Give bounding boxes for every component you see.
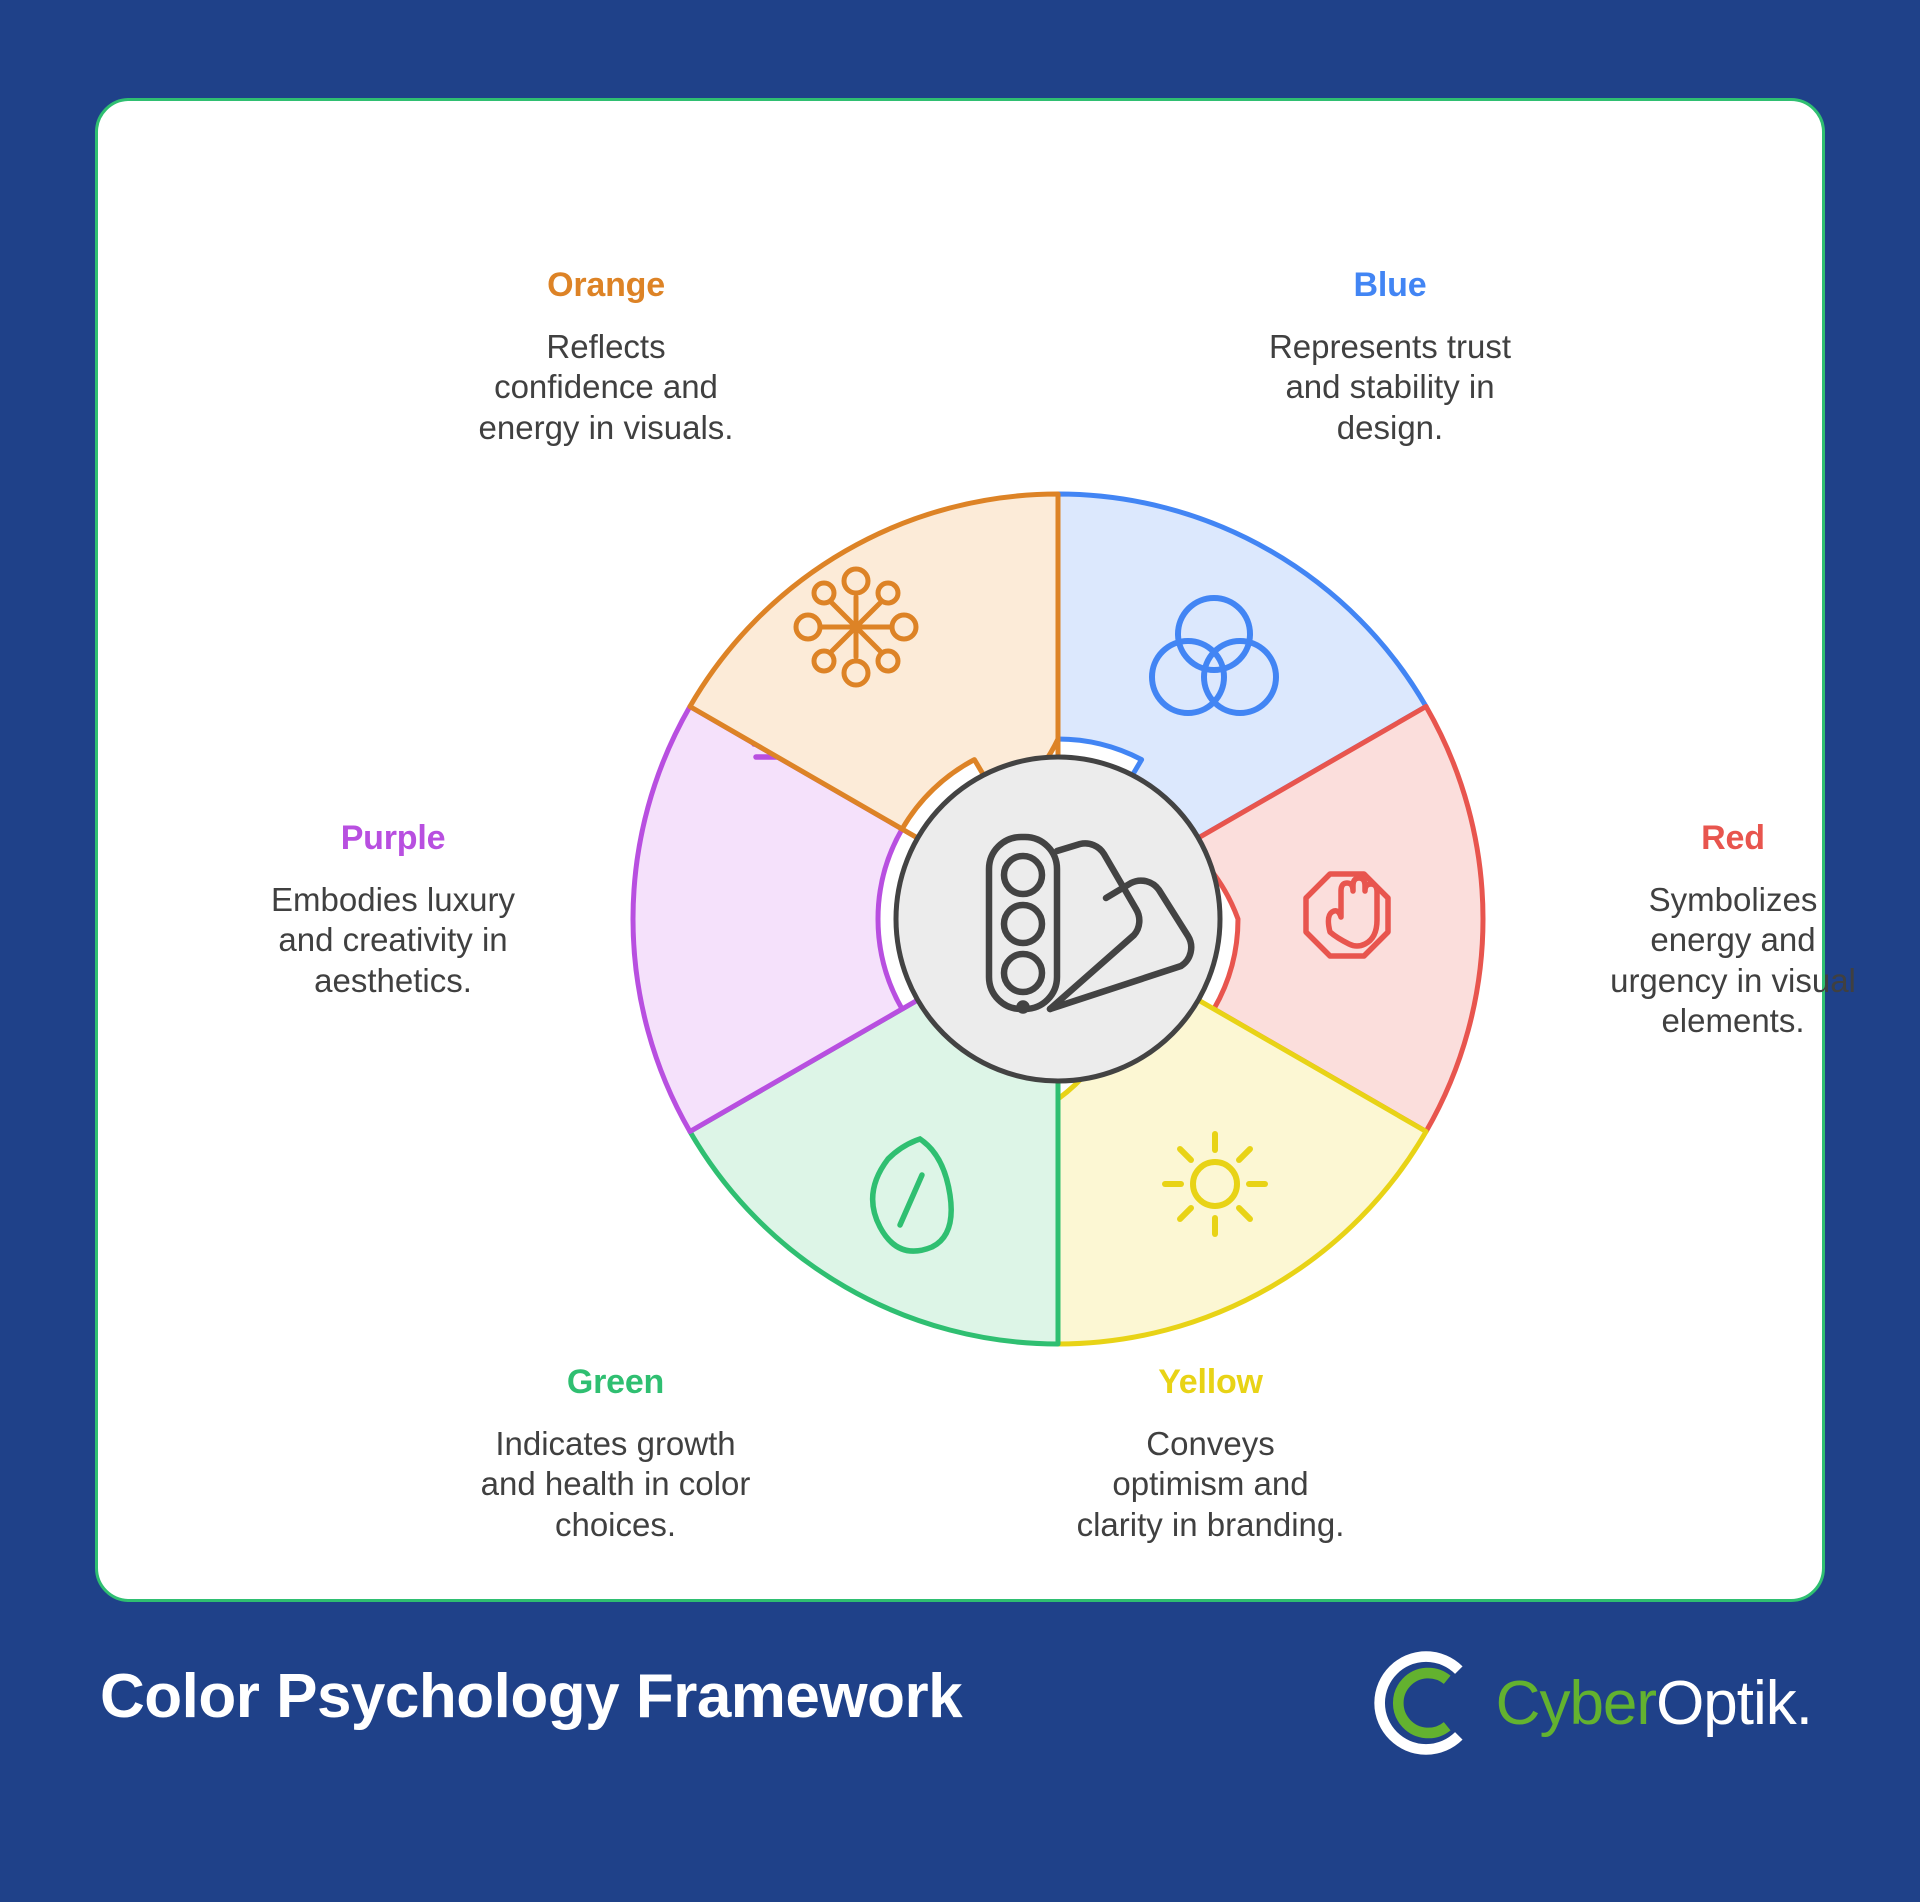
logo-word-optik: Optik. xyxy=(1656,1669,1812,1738)
logo-wordmark: CyberOptik. xyxy=(1496,1668,1812,1739)
label-block-yellow: Yellow Conveys optimism and clarity in b… xyxy=(1038,1363,1383,1545)
segment-desc-red: Symbolizes energy and urgency in visual … xyxy=(1538,880,1920,1041)
label-block-orange: Orange Reflects confidence and energy in… xyxy=(446,266,766,448)
segment-desc-yellow: Conveys optimism and clarity in branding… xyxy=(1038,1424,1383,1545)
segment-desc-orange: Reflects confidence and energy in visual… xyxy=(446,327,766,448)
logo-mark-icon xyxy=(1366,1645,1482,1761)
segment-desc-blue: Represents trust and stability in design… xyxy=(1230,327,1550,448)
segment-desc-purple: Embodies luxury and creativity in aesthe… xyxy=(198,880,588,1001)
footer-title: Color Psychology Framework xyxy=(100,1661,962,1732)
label-block-purple: Purple Embodies luxury and creativity in… xyxy=(198,819,588,1001)
segment-title-purple: Purple xyxy=(198,819,588,858)
content-card: Orange Reflects confidence and energy in… xyxy=(95,98,1825,1602)
cyberoptik-logo[interactable]: CyberOptik. xyxy=(1366,1645,1812,1761)
segment-title-blue: Blue xyxy=(1230,266,1550,305)
segment-desc-green: Indicates growth and health in color cho… xyxy=(443,1424,788,1545)
segment-title-orange: Orange xyxy=(446,266,766,305)
label-block-green: Green Indicates growth and health in col… xyxy=(443,1363,788,1545)
color-wheel-chart xyxy=(608,469,1508,1369)
infographic-root: Orange Reflects confidence and energy in… xyxy=(0,0,1920,1902)
segment-title-red: Red xyxy=(1538,819,1920,858)
logo-word-cyber: Cyber xyxy=(1496,1669,1656,1738)
label-block-blue: Blue Represents trust and stability in d… xyxy=(1230,266,1550,448)
label-block-red: Red Symbolizes energy and urgency in vis… xyxy=(1538,819,1920,1041)
center-hub xyxy=(896,757,1220,1081)
footer-bar: Color Psychology Framework CyberOptik. xyxy=(0,1625,1920,1825)
